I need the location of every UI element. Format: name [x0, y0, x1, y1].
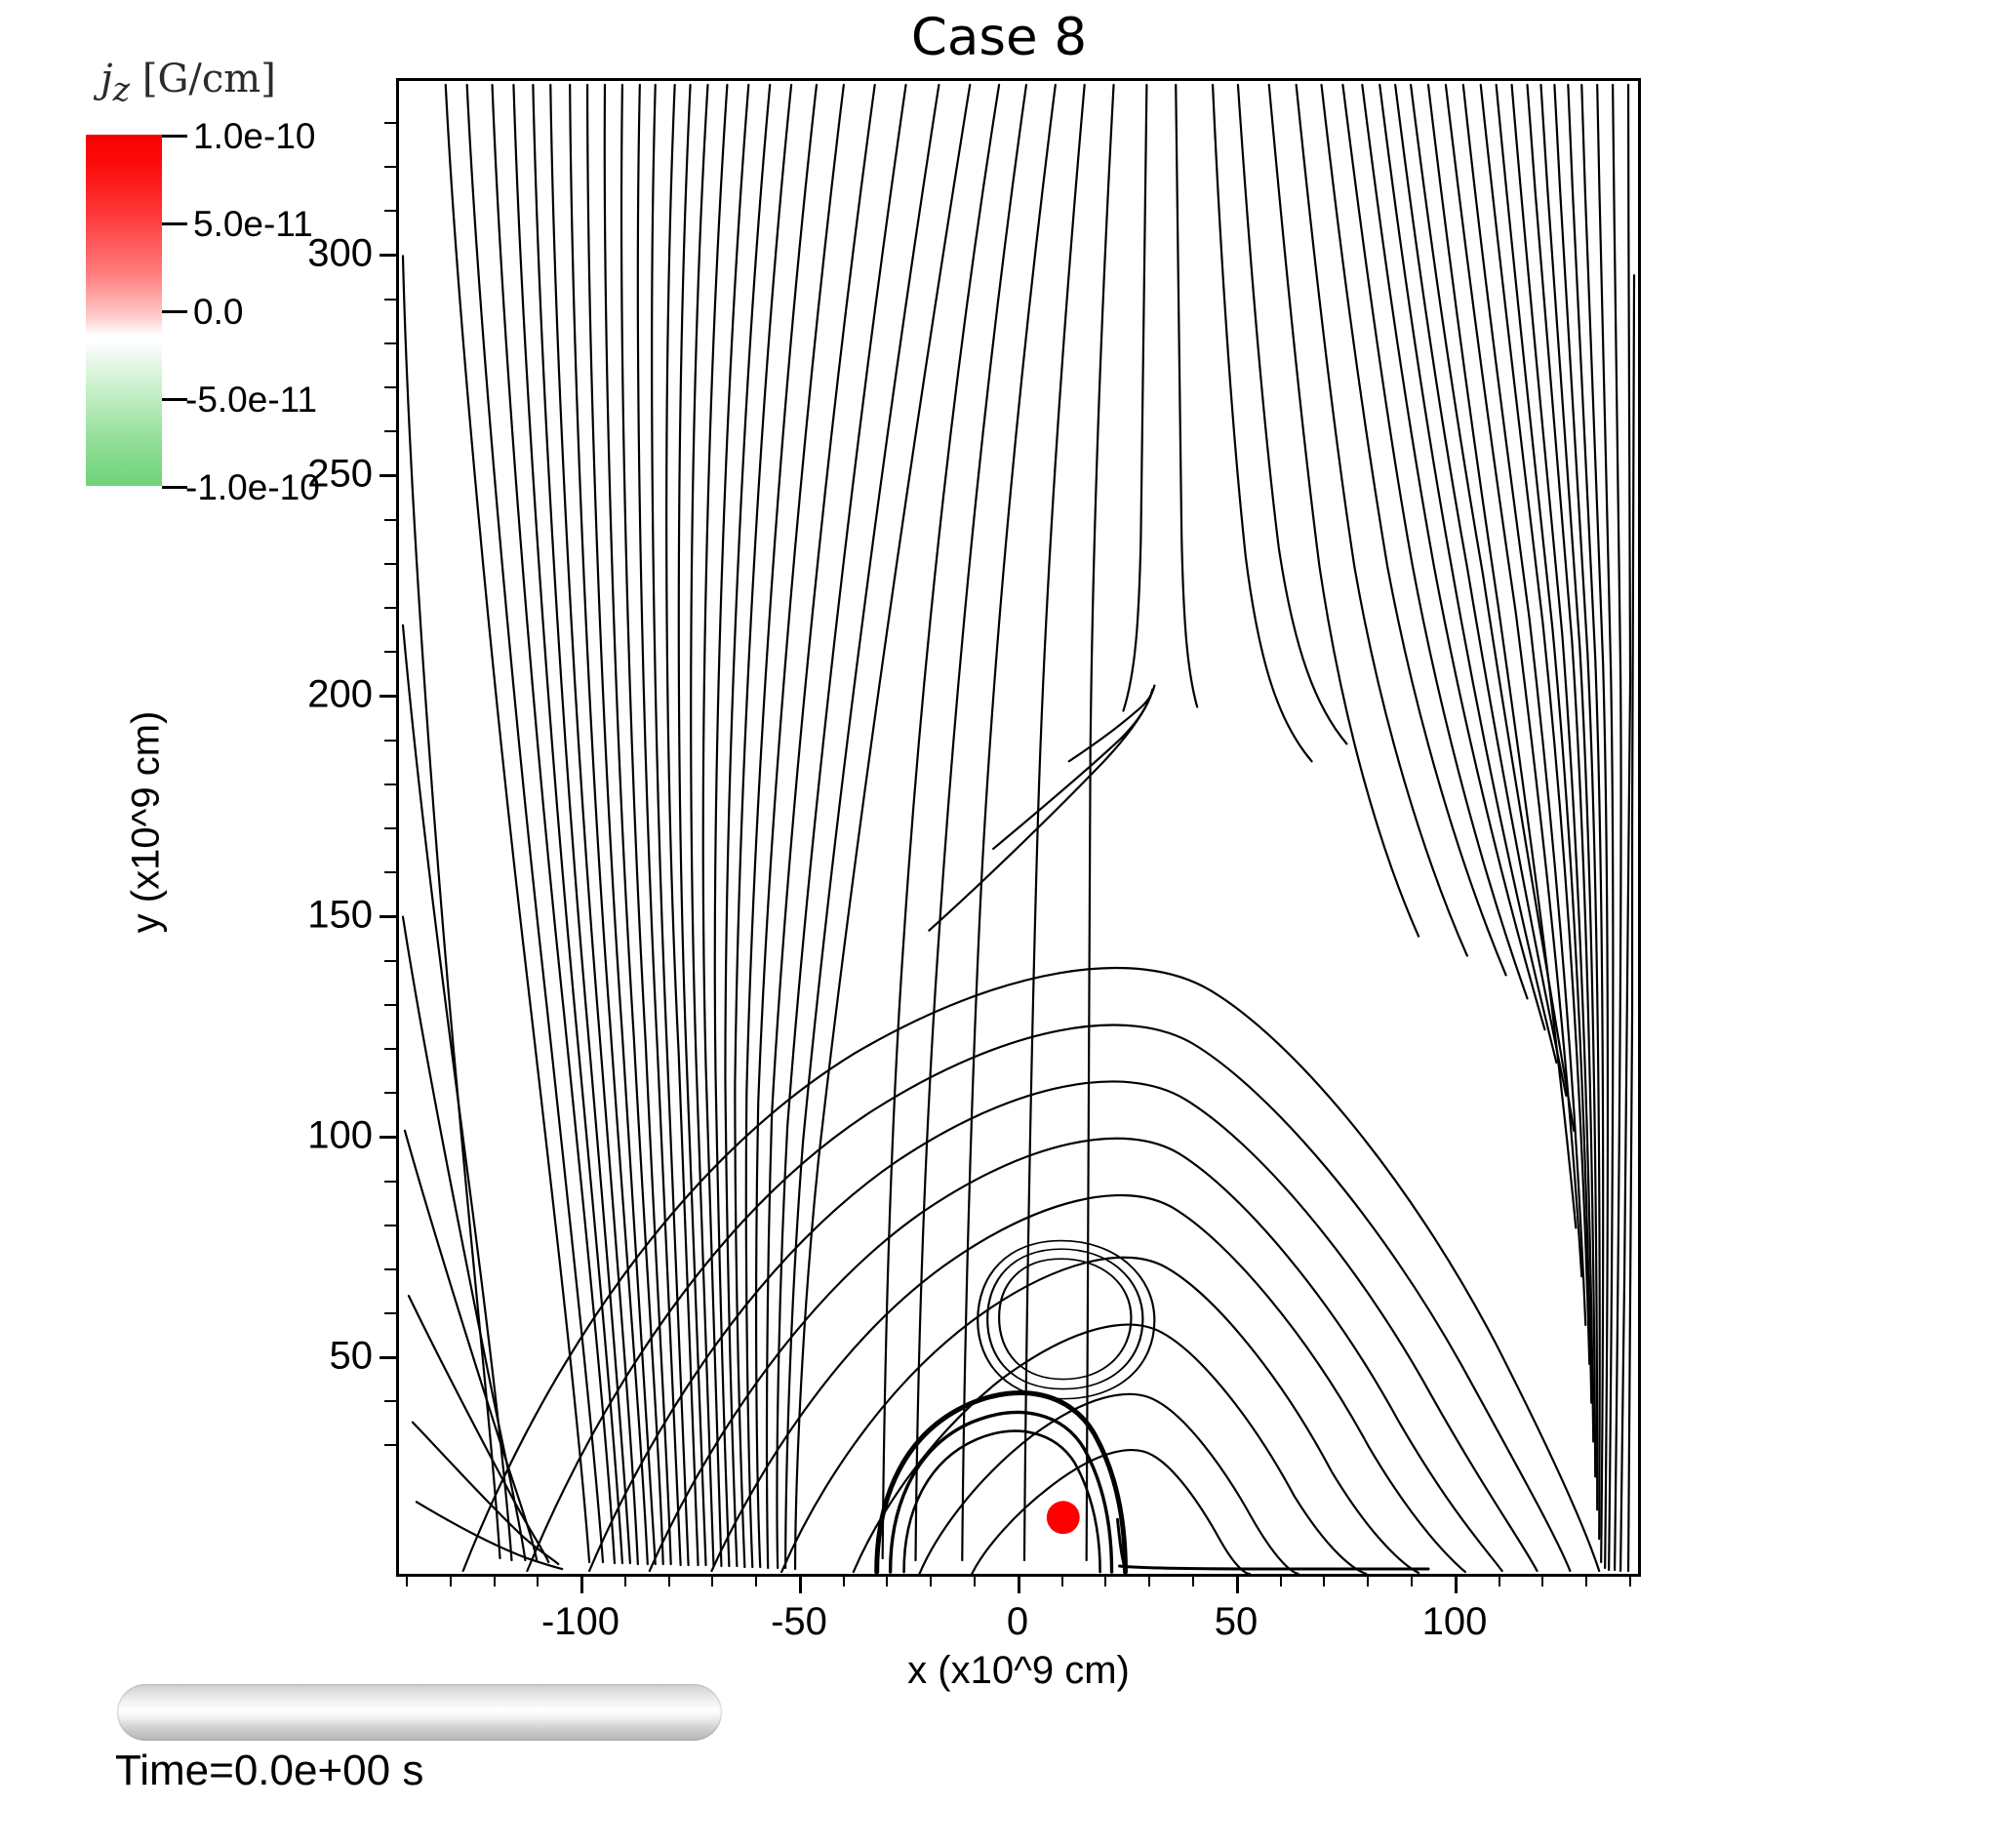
y-tick-label: 100 — [307, 1114, 373, 1158]
colorbar-gradient — [86, 135, 162, 486]
flux-rope-center-marker — [1047, 1501, 1080, 1534]
colorbar-legend: jz [G/cm] 1.0e-10 5.0e-11 0.0 -5.0e-11 -… — [47, 57, 340, 515]
y-tick-label: 150 — [307, 894, 373, 938]
x-tick-label: 50 — [1215, 1600, 1259, 1644]
time-readout: Time=0.0e+00 s — [115, 1747, 423, 1795]
x-tick-label: -100 — [541, 1600, 619, 1644]
plot-canvas[interactable] — [396, 78, 1641, 1577]
x-tick-label: -50 — [771, 1600, 827, 1644]
colorbar-tick-label: -1.0e-10 — [185, 467, 320, 508]
y-tick-label: 250 — [307, 453, 373, 497]
colorbar-title-symbol: j — [100, 57, 112, 101]
y-tick-label: 50 — [330, 1335, 374, 1379]
time-progress-bar[interactable] — [117, 1684, 722, 1741]
y-tick-label: 300 — [307, 232, 373, 276]
colorbar-title: jz [G/cm] — [47, 57, 330, 108]
colorbar-title-subscript: z — [113, 70, 131, 108]
colorbar-title-units: [G/cm] — [142, 57, 276, 101]
x-tick-label: 100 — [1422, 1600, 1488, 1644]
colorbar-tick-label: -5.0e-11 — [185, 380, 317, 421]
colorbar-tick-mark — [162, 398, 187, 401]
y-axis-title: y (x10^9 cm) — [125, 598, 169, 1047]
colorbar-tick-mark — [162, 135, 187, 138]
colorbar-tick-mark — [162, 310, 187, 313]
colorbar-tick-label: 1.0e-10 — [193, 116, 316, 157]
y-tick-label: 200 — [307, 673, 373, 717]
colorbar-tick-mark — [162, 486, 187, 489]
field-line-streamlines — [399, 81, 1638, 1574]
colorbar-tick-mark — [162, 222, 187, 225]
x-tick-label: 0 — [1007, 1600, 1028, 1644]
colorbar-tick-label: 0.0 — [193, 292, 243, 333]
colorbar-tick-label: 5.0e-11 — [193, 204, 313, 245]
